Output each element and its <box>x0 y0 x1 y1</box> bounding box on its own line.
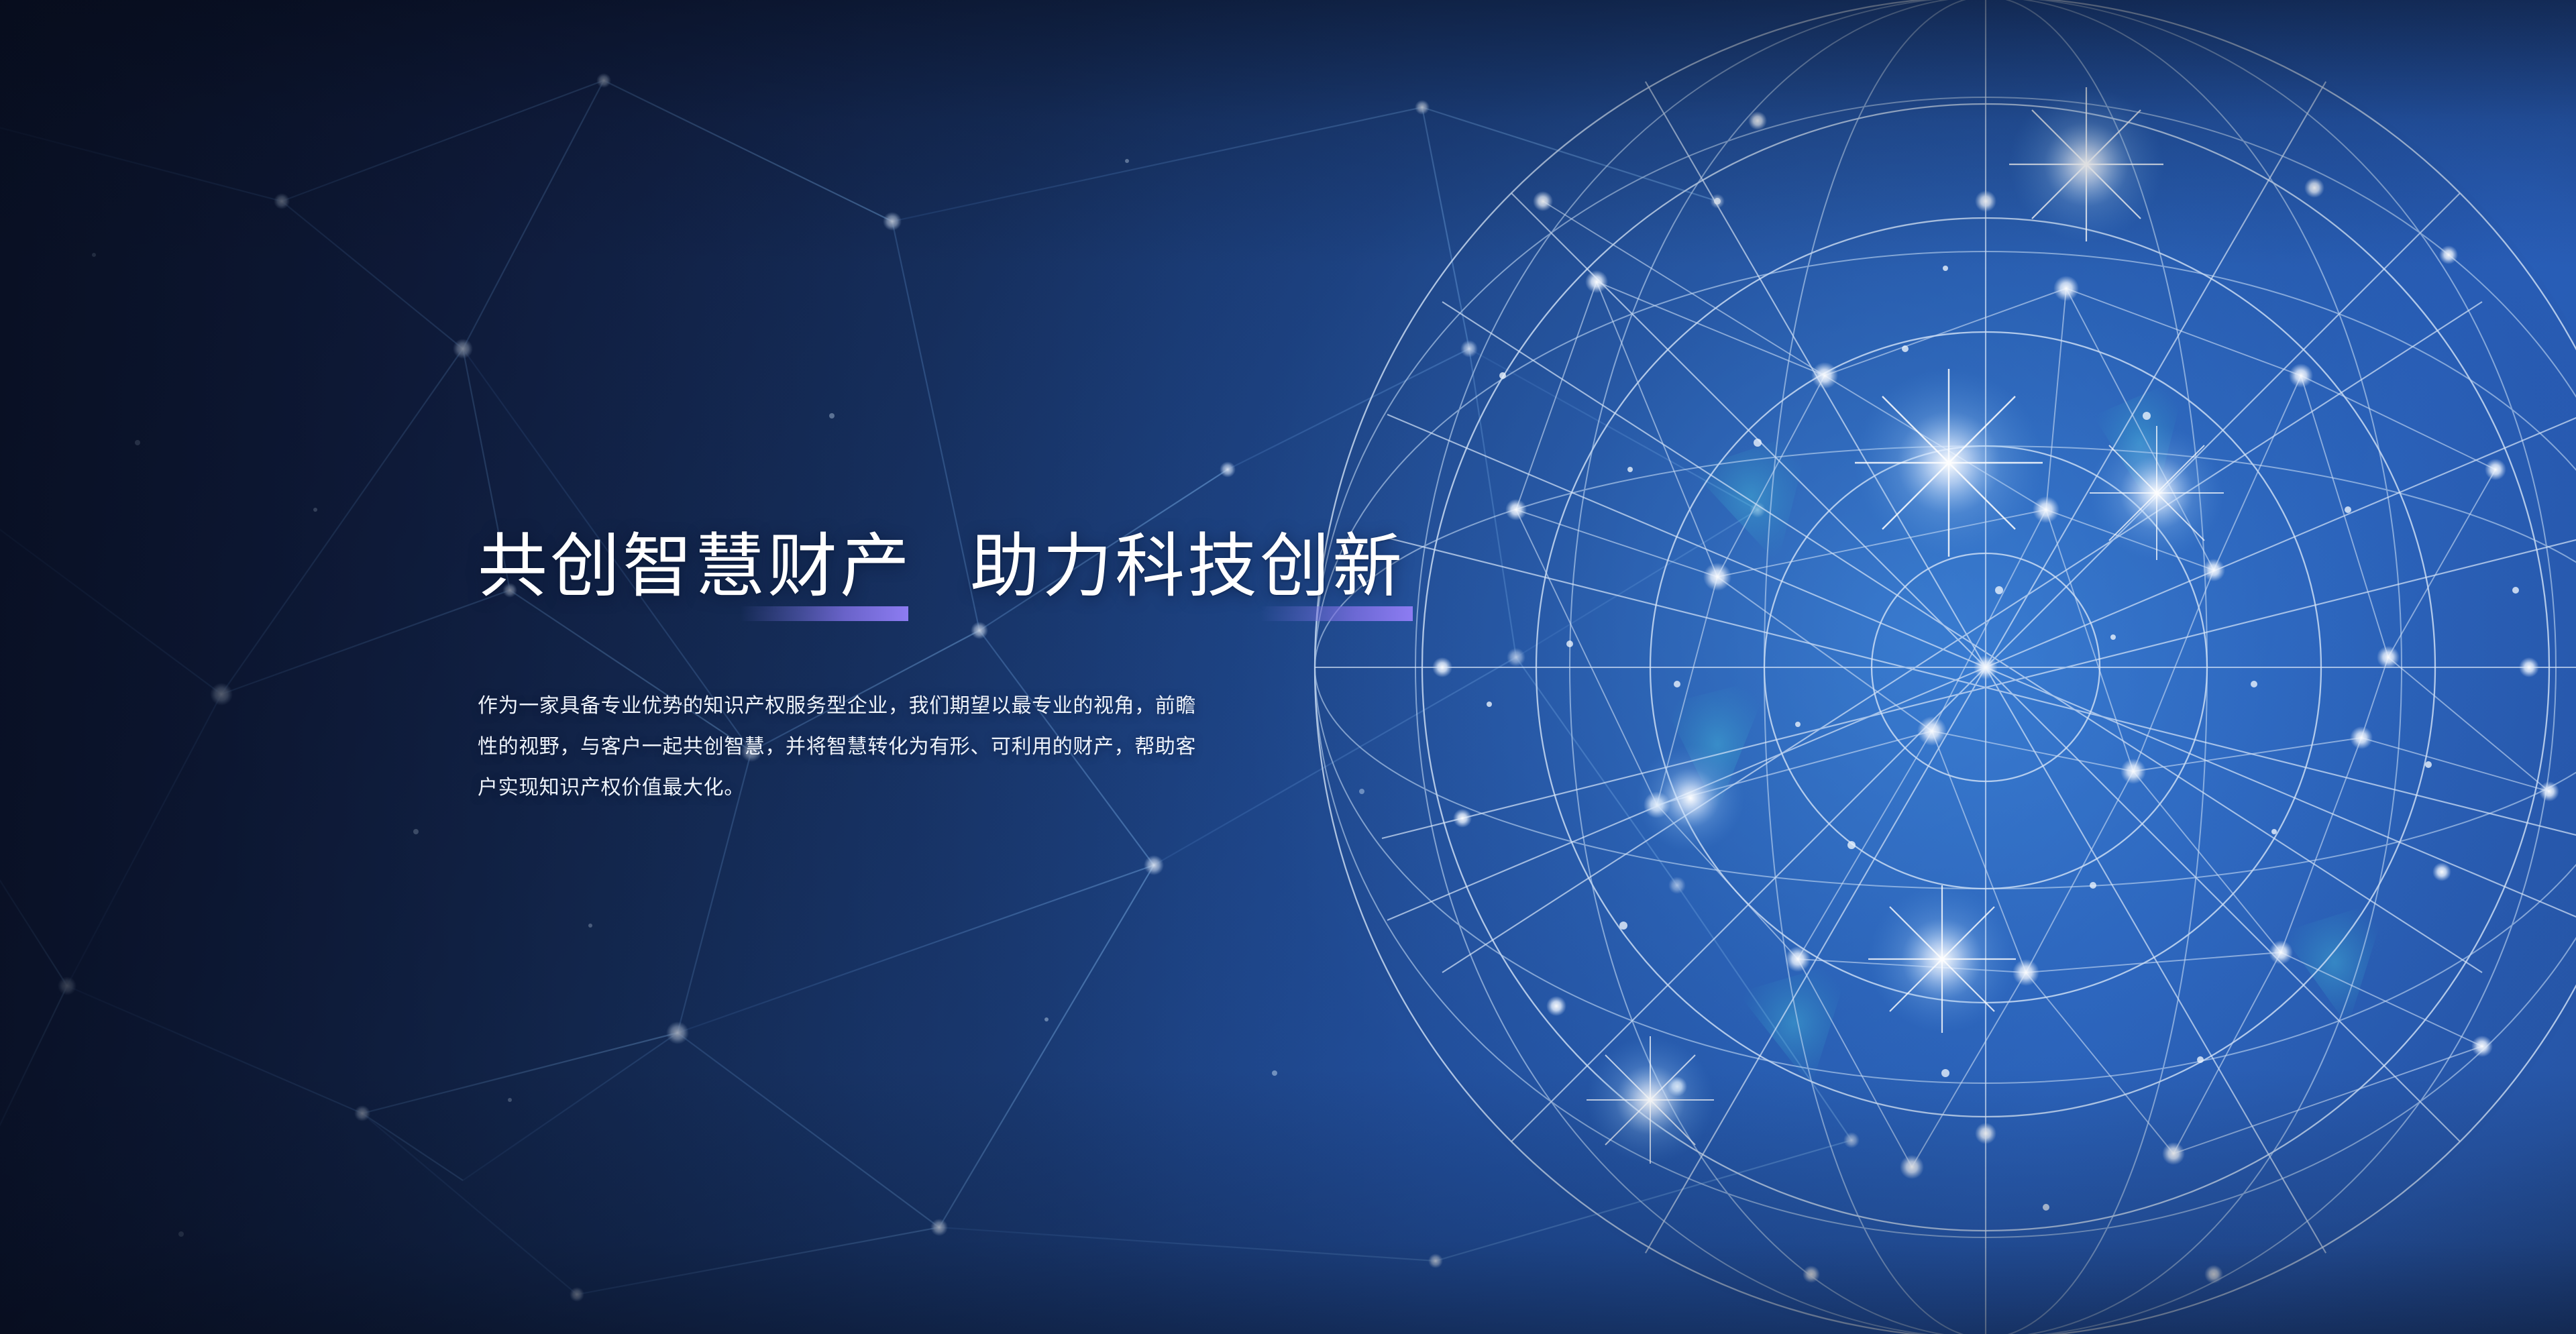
headline-part-two-group: 助力科技创新 <box>970 530 1405 604</box>
headline-part-one: 共创智慧财产 <box>478 530 912 604</box>
banner-content: 共创智慧财产 助力科技创新 作为一家具备专业优势的知识产权服务型企业，我们期望以… <box>478 530 1457 808</box>
headline-part-one-group: 共创智慧财产 <box>478 530 912 604</box>
accent-underline-one <box>741 606 908 621</box>
page-title: 共创智慧财产 助力科技创新 <box>478 530 1457 604</box>
banner-description: 作为一家具备专业优势的知识产权服务型企业，我们期望以最专业的视角，前瞻 性的视野… <box>478 685 1437 808</box>
accent-underline-two <box>1260 606 1413 621</box>
star-flare-icon <box>1587 87 2224 1164</box>
headline-part-two: 助力科技创新 <box>970 530 1405 604</box>
description-line: 性的视野，与客户一起共创智慧，并将智慧转化为有形、可利用的财产，帮助客 <box>478 726 1437 767</box>
description-line: 作为一家具备专业优势的知识产权服务型企业，我们期望以最专业的视角，前瞻 <box>478 685 1437 726</box>
description-line: 户实现知识产权价值最大化。 <box>478 767 1437 808</box>
hero-banner: 共创智慧财产 助力科技创新 作为一家具备专业优势的知识产权服务型企业，我们期望以… <box>0 0 2576 1334</box>
